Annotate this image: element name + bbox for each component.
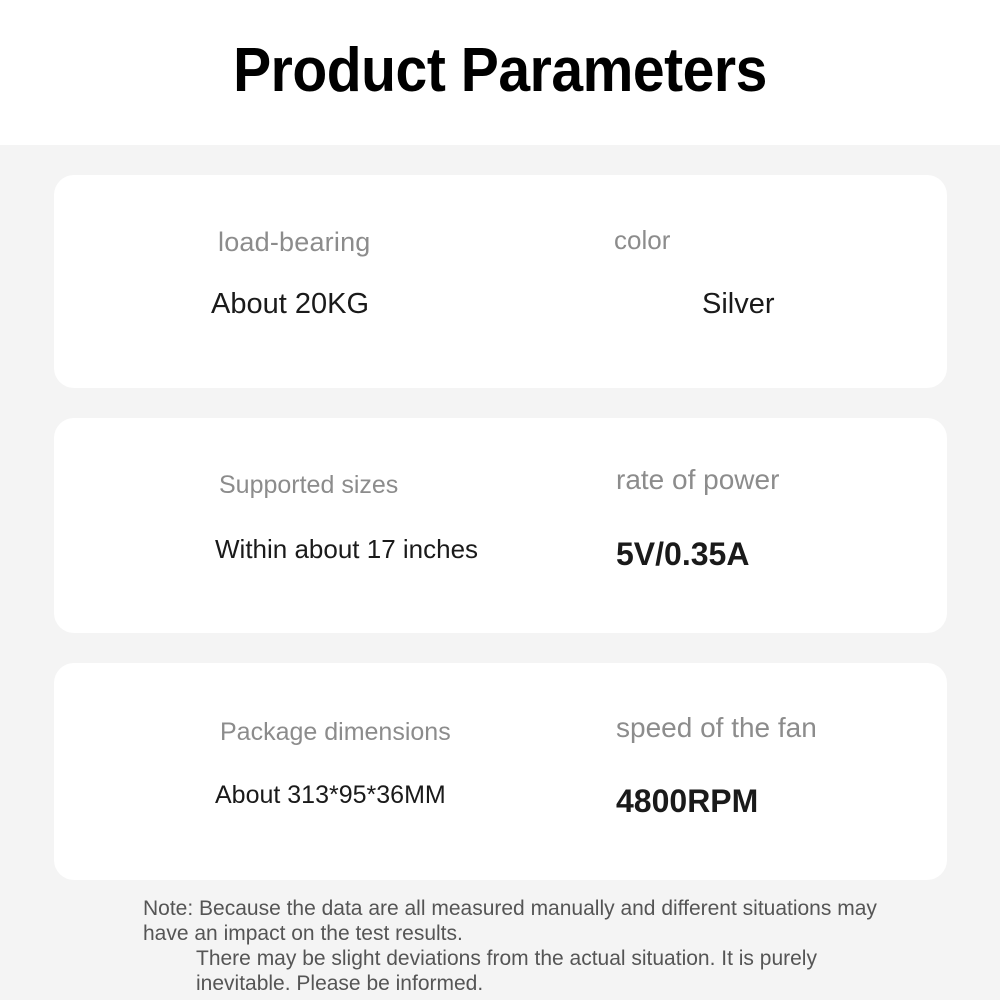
param-value-package-dimensions: About 313*95*36MM [215, 781, 446, 810]
footer-note-line-4: inevitable. Please be informed. [0, 971, 1000, 996]
page-title: Product Parameters [40, 34, 960, 108]
param-label-speed-of-the-fan: speed of the fan [616, 712, 817, 744]
param-label-supported-sizes: Supported sizes [219, 471, 398, 500]
parameter-card-load-bearing-color: load-bearing About 20KG color Silver [54, 175, 947, 388]
footer-note: Note: Because the data are all measured … [0, 896, 1000, 996]
param-value-speed-of-the-fan: 4800RPM [616, 783, 758, 820]
footer-note-line-1: Note: Because the data are all measured … [0, 896, 1000, 921]
param-value-load-bearing: About 20KG [211, 288, 369, 321]
param-value-rate-of-power: 5V/0.35A [616, 536, 749, 573]
parameter-card-package-dimensions-fan-speed: Package dimensions About 313*95*36MM spe… [54, 663, 947, 880]
parameter-card-supported-sizes-rate-of-power: Supported sizes Within about 17 inches r… [54, 418, 947, 633]
header-band: Product Parameters [0, 0, 1000, 145]
param-label-load-bearing: load-bearing [218, 227, 371, 258]
footer-note-line-2: have an impact on the test results. [0, 921, 1000, 946]
param-value-color: Silver [702, 288, 775, 321]
param-label-color: color [614, 225, 670, 256]
footer-note-line-3: There may be slight deviations from the … [0, 946, 1000, 971]
param-label-package-dimensions: Package dimensions [220, 718, 451, 747]
param-label-rate-of-power: rate of power [616, 464, 779, 496]
param-value-supported-sizes: Within about 17 inches [215, 534, 478, 565]
